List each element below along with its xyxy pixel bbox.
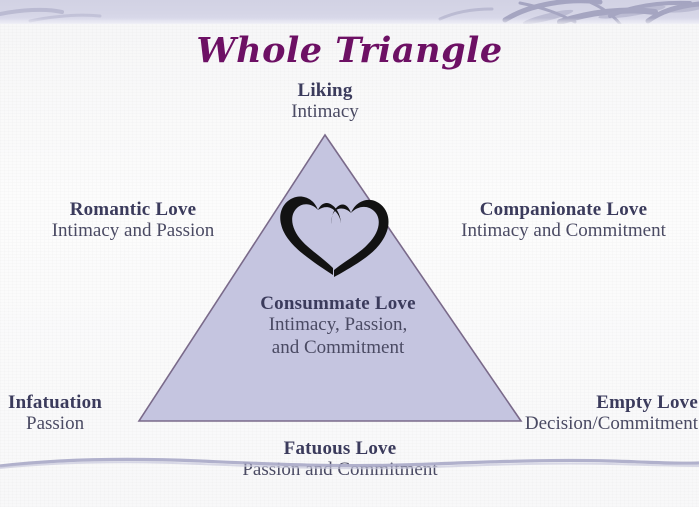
triangle-shape bbox=[139, 135, 521, 421]
infatuation-title: Infatuation bbox=[8, 392, 188, 413]
side-label-companionate-love: Companionate Love Intimacy and Commitmen… bbox=[428, 199, 699, 242]
vertex-label-empty-love: Empty Love Decision/Commitment bbox=[470, 392, 698, 435]
infatuation-component: Passion bbox=[26, 413, 188, 434]
empty-love-title: Empty Love bbox=[470, 392, 698, 413]
bottom-decorative-wave bbox=[0, 452, 699, 474]
side-label-romantic-love: Romantic Love Intimacy and Passion bbox=[8, 199, 258, 242]
vertex-label-infatuation: Infatuation Passion bbox=[8, 392, 188, 435]
consummate-love-components-line2: and Commitment bbox=[188, 337, 488, 359]
empty-love-component: Decision/Commitment bbox=[470, 413, 698, 434]
liking-component: Intimacy bbox=[175, 101, 475, 122]
consummate-love-components-line1: Intimacy, Passion, bbox=[188, 314, 488, 336]
vertex-label-liking: Liking Intimacy bbox=[175, 80, 475, 123]
romantic-love-components: Intimacy and Passion bbox=[8, 220, 258, 241]
center-label-consummate-love: Consummate Love Intimacy, Passion, and C… bbox=[188, 293, 488, 359]
consummate-love-title: Consummate Love bbox=[188, 293, 488, 314]
liking-title: Liking bbox=[175, 80, 475, 101]
companionate-love-title: Companionate Love bbox=[428, 199, 699, 220]
slide-canvas: Whole Triangle Liking Intimacy Romantic … bbox=[0, 0, 699, 507]
companionate-love-components: Intimacy and Commitment bbox=[428, 220, 699, 241]
romantic-love-title: Romantic Love bbox=[8, 199, 258, 220]
